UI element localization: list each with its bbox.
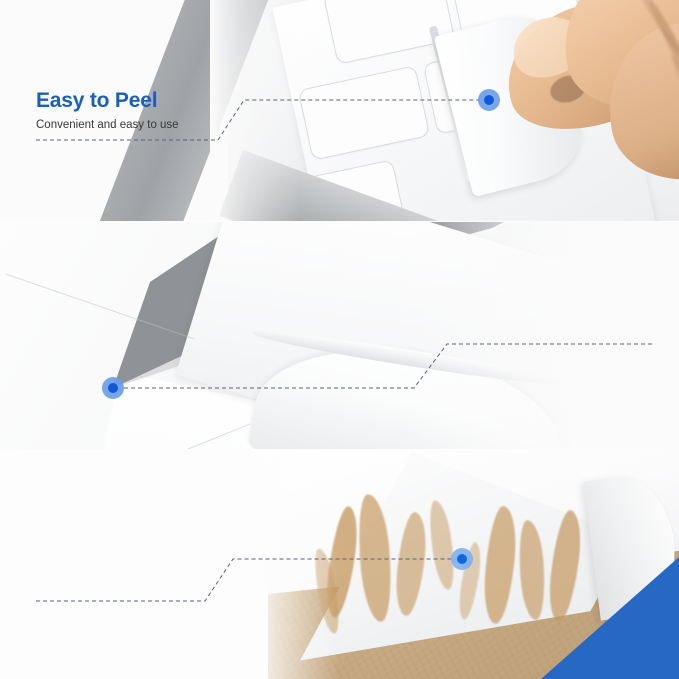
peel-point-marker — [478, 89, 500, 111]
image-label-peeled-from-cardboard — [0, 450, 679, 679]
image-label-sheet-tearing — [0, 222, 679, 450]
subline-easy-to-peel: Convenient and easy to use — [36, 117, 179, 133]
product-feature-infographic: Easy to Peel Convenient and easy to use … — [0, 0, 679, 679]
photo-right-fade — [410, 222, 679, 450]
photo-left-fade — [228, 450, 338, 679]
adhesive-point-marker — [451, 548, 473, 570]
tear-line-marker — [102, 377, 124, 399]
photo-left-fade — [210, 0, 300, 222]
marker-core — [484, 95, 494, 105]
marker-core — [108, 383, 118, 393]
panel-easy-to-tear-off: Easy to Tear Off Tear line facilitates t… — [0, 222, 679, 450]
marker-core — [457, 554, 467, 564]
panel-easy-to-peel: Easy to Peel Convenient and easy to use — [0, 0, 679, 222]
hand-fingers — [498, 0, 679, 202]
callout-easy-to-peel: Easy to Peel Convenient and easy to use — [36, 90, 179, 133]
headline-easy-to-peel: Easy to Peel — [36, 90, 179, 112]
panel-strong-adhesive: Strong Adhesive Strong stickiness and no… — [0, 450, 679, 679]
